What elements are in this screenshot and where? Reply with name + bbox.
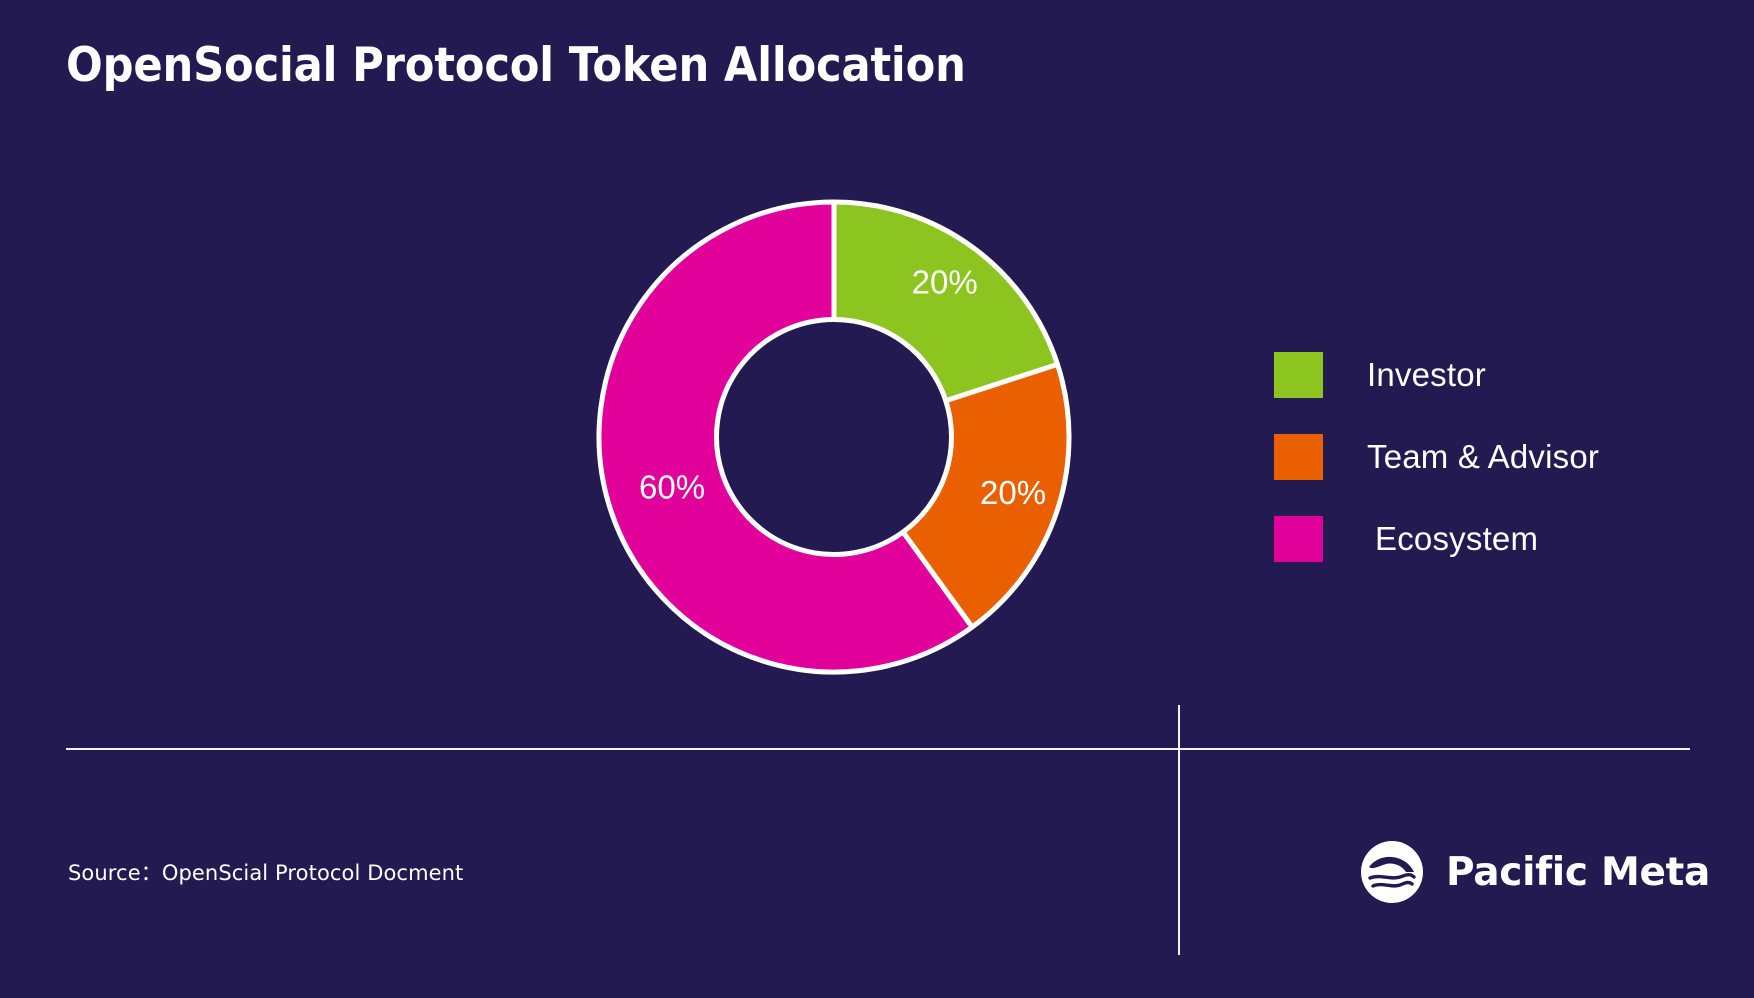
chart-legend: Investor Team & Advisor Ecosystem: [1274, 350, 1694, 596]
footer-divider-vertical: [1178, 705, 1180, 955]
legend-label-team-advisor: Team & Advisor: [1367, 438, 1599, 476]
legend-swatch-investor: [1274, 352, 1323, 398]
slice-data-label: 20%: [912, 263, 978, 300]
brand-name: Pacific Meta: [1446, 850, 1710, 895]
legend-item-team-advisor[interactable]: Team & Advisor: [1274, 432, 1694, 481]
donut-chart: 20%20%60%: [560, 180, 1120, 710]
donut-chart-svg: 20%20%60%: [560, 180, 1120, 710]
brand-logo: Pacific Meta: [1360, 840, 1710, 904]
legend-label-investor: Investor: [1367, 356, 1486, 394]
page-title: OpenSocial Protocol Token Allocation: [66, 38, 966, 93]
legend-item-investor[interactable]: Investor: [1274, 350, 1694, 399]
legend-swatch-ecosystem: [1274, 516, 1323, 562]
legend-item-ecosystem[interactable]: Ecosystem: [1274, 514, 1694, 563]
legend-swatch-team-advisor: [1274, 434, 1323, 480]
slide-canvas: OpenSocial Protocol Token Allocation 20%…: [0, 0, 1754, 998]
source-note: Source：OpenScial Protocol Docment: [68, 857, 463, 887]
donut-slice[interactable]: [834, 202, 1057, 401]
slice-data-label: 20%: [980, 474, 1046, 511]
slice-data-label: 60%: [639, 468, 705, 505]
footer-divider-horizontal: [66, 748, 1690, 750]
legend-label-ecosystem: Ecosystem: [1375, 520, 1538, 558]
wave-circle-icon: [1360, 840, 1424, 904]
donut-slices: [599, 202, 1069, 672]
